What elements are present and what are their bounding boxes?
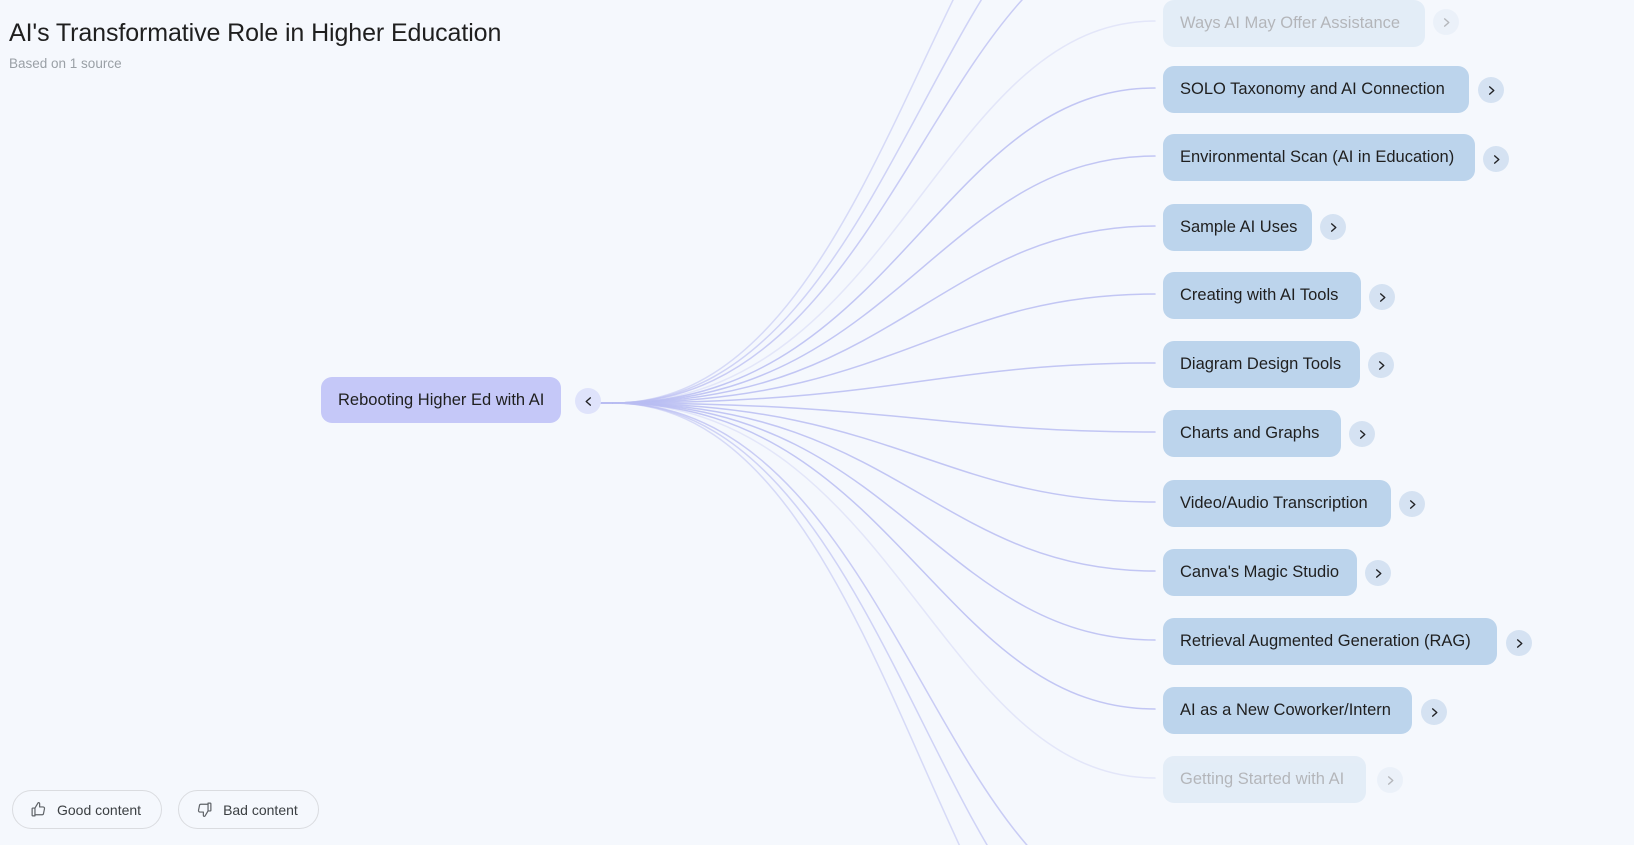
expand-node-button[interactable]	[1433, 9, 1459, 35]
connector-edge	[613, 403, 1155, 432]
collapse-root-button[interactable]	[575, 388, 601, 414]
connector-edge	[613, 21, 1155, 403]
mindmap-node-label: Canva's Magic Studio	[1180, 564, 1339, 581]
feedback-bar: Good content Bad content	[12, 790, 319, 829]
connector-edge	[613, 403, 1155, 502]
expand-node-button[interactable]	[1349, 421, 1375, 447]
mindmap-node-label: Environmental Scan (AI in Education)	[1180, 149, 1454, 166]
expand-node-button[interactable]	[1365, 560, 1391, 586]
connector-edge	[613, 226, 1155, 403]
chevron-right-icon	[1373, 568, 1384, 579]
connector-edge	[613, 0, 1155, 403]
chevron-right-icon	[1429, 707, 1440, 718]
mindmap-root-label: Rebooting Higher Ed with AI	[338, 392, 544, 409]
chevron-left-icon	[583, 396, 594, 407]
mindmap-node-label: Charts and Graphs	[1180, 425, 1319, 442]
mindmap-child-node[interactable]: Charts and Graphs	[1163, 410, 1341, 457]
connector-edge	[613, 363, 1155, 403]
expand-node-button[interactable]	[1377, 767, 1403, 793]
connector-edge	[613, 403, 1155, 709]
mindmap-child-node[interactable]: Environmental Scan (AI in Education)	[1163, 134, 1475, 181]
chevron-right-icon	[1514, 638, 1525, 649]
connector-edge	[613, 156, 1155, 403]
connector-edge	[613, 403, 1155, 571]
mindmap-node-label: Creating with AI Tools	[1180, 287, 1338, 304]
chevron-right-icon	[1377, 292, 1388, 303]
connector-edge	[613, 403, 1155, 845]
bad-content-label: Bad content	[223, 802, 298, 818]
expand-node-button[interactable]	[1506, 630, 1532, 656]
connector-edge	[613, 403, 1155, 640]
mindmap-node-label: Diagram Design Tools	[1180, 356, 1341, 373]
chevron-right-icon	[1491, 154, 1502, 165]
connector-edge	[613, 403, 1155, 845]
chevron-right-icon	[1385, 775, 1396, 786]
chevron-right-icon	[1357, 429, 1368, 440]
chevron-right-icon	[1441, 17, 1452, 28]
connector-edge	[613, 403, 1155, 778]
mindmap-root-node[interactable]: Rebooting Higher Ed with AI	[321, 377, 561, 423]
expand-node-button[interactable]	[1369, 284, 1395, 310]
expand-node-button[interactable]	[1399, 491, 1425, 517]
mindmap-node-label: Ways AI May Offer Assistance	[1180, 15, 1400, 32]
mindmap-node-label: Getting Started with AI	[1180, 771, 1344, 788]
mindmap-child-node[interactable]: Canva's Magic Studio	[1163, 549, 1357, 596]
good-content-button[interactable]: Good content	[12, 790, 162, 829]
mindmap-node-label: Video/Audio Transcription	[1180, 495, 1368, 512]
expand-node-button[interactable]	[1478, 77, 1504, 103]
good-content-label: Good content	[57, 802, 141, 818]
connector-edge	[613, 0, 1155, 403]
mindmap-child-node[interactable]: Creating with AI Tools	[1163, 272, 1361, 319]
mindmap-child-node[interactable]: Retrieval Augmented Generation (RAG)	[1163, 618, 1497, 665]
expand-node-button[interactable]	[1421, 699, 1447, 725]
thumbs-down-icon	[196, 801, 213, 818]
bad-content-button[interactable]: Bad content	[178, 790, 319, 829]
page-title: AI's Transformative Role in Higher Educa…	[9, 16, 501, 50]
header: AI's Transformative Role in Higher Educa…	[9, 16, 501, 74]
chevron-right-icon	[1407, 499, 1418, 510]
mindmap-child-node[interactable]: Diagram Design Tools	[1163, 341, 1360, 388]
expand-node-button[interactable]	[1368, 352, 1394, 378]
mindmap-node-label: Retrieval Augmented Generation (RAG)	[1180, 633, 1471, 650]
mindmap-node-label: AI as a New Coworker/Intern	[1180, 702, 1391, 719]
mindmap-child-node[interactable]: AI as a New Coworker/Intern	[1163, 687, 1412, 734]
expand-node-button[interactable]	[1320, 214, 1346, 240]
expand-node-button[interactable]	[1483, 146, 1509, 172]
page-subtitle: Based on 1 source	[9, 54, 501, 74]
mindmap-child-node[interactable]: Sample AI Uses	[1163, 204, 1312, 251]
mindmap-child-node[interactable]: SOLO Taxonomy and AI Connection	[1163, 66, 1469, 113]
thumbs-up-icon	[30, 801, 47, 818]
mindmap-canvas[interactable]: AI's Transformative Role in Higher Educa…	[0, 0, 1634, 845]
mindmap-node-label: Sample AI Uses	[1180, 219, 1297, 236]
chevron-right-icon	[1376, 360, 1387, 371]
connector-edge	[613, 403, 1155, 845]
mindmap-child-node[interactable]: Video/Audio Transcription	[1163, 480, 1391, 527]
connector-edge	[613, 294, 1155, 403]
chevron-right-icon	[1486, 85, 1497, 96]
connector-edge	[613, 0, 1155, 403]
chevron-right-icon	[1328, 222, 1339, 233]
connector-edge	[613, 88, 1155, 403]
mindmap-node-label: SOLO Taxonomy and AI Connection	[1180, 81, 1445, 98]
mindmap-child-node[interactable]: Ways AI May Offer Assistance	[1163, 0, 1425, 47]
mindmap-child-node[interactable]: Getting Started with AI	[1163, 756, 1366, 803]
